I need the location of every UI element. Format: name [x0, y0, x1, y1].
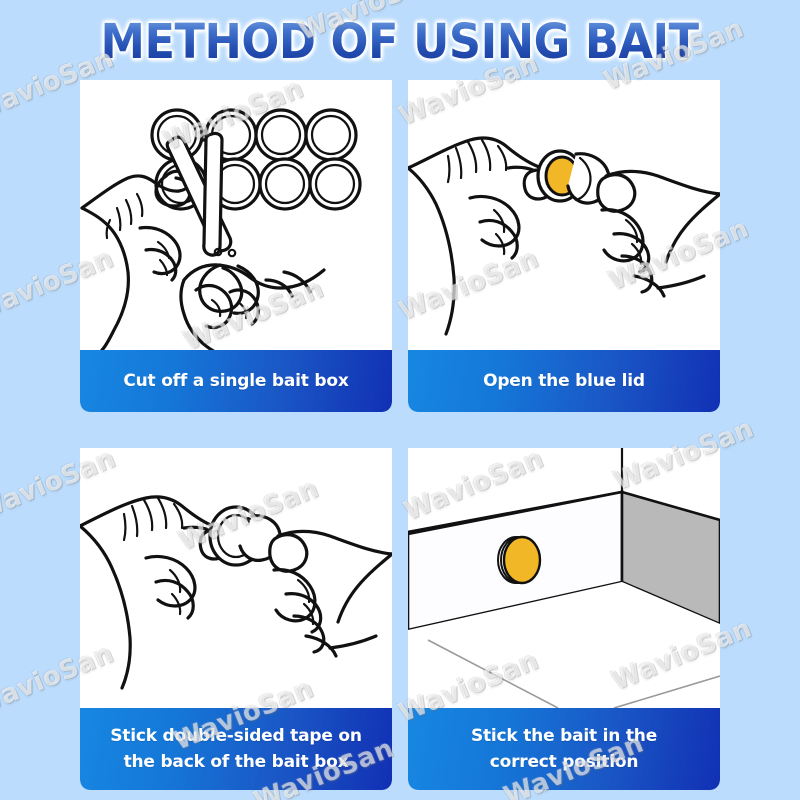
- left-hand: [408, 138, 554, 334]
- step-card-3: Stick double-sided tape on the back of t…: [80, 448, 392, 790]
- right-hand: [598, 172, 720, 297]
- room-corner-with-bait-drawing: [408, 448, 720, 708]
- step-2-illustration: [408, 80, 720, 350]
- step-2-caption-line-1: Open the blue lid: [483, 368, 645, 394]
- step-4-caption-line-1: Stick the bait in the: [471, 723, 657, 749]
- step-2-caption: Open the blue lid: [408, 350, 720, 412]
- page-title: METHOD OF USING BAIT: [97, 18, 703, 66]
- step-3-caption: Stick double-sided tape on the back of t…: [80, 708, 392, 790]
- steps-grid: Cut off a single bait box: [80, 80, 720, 780]
- hands-applying-tape-drawing: [80, 448, 392, 708]
- step-3-illustration: [80, 448, 392, 708]
- step-4-caption-line-2: correct position: [490, 749, 639, 775]
- right-hand: [270, 532, 392, 657]
- step-1-caption-line-1: Cut off a single bait box: [123, 368, 348, 394]
- step-card-4: Stick the bait in the correct position: [408, 448, 720, 790]
- left-hand: [80, 497, 230, 688]
- hands-opening-lid-drawing: [408, 80, 720, 350]
- page-title-container: METHOD OF USING BAIT: [0, 10, 800, 74]
- step-card-2: Open the blue lid: [408, 80, 720, 412]
- step-4-caption: Stick the bait in the correct position: [408, 708, 720, 790]
- infographic-page: METHOD OF USING BAIT: [0, 0, 800, 800]
- step-1-caption: Cut off a single bait box: [80, 350, 392, 412]
- step-3-caption-line-2: the back of the bait box: [124, 749, 349, 775]
- bait-disc-on-wall: [498, 537, 540, 583]
- amber-bait-disc: [504, 537, 540, 583]
- step-4-illustration: [408, 448, 720, 708]
- step-1-illustration: [80, 80, 392, 350]
- scissors-cutting-bait-sheet-drawing: [80, 80, 392, 350]
- step-3-caption-line-1: Stick double-sided tape on: [110, 723, 362, 749]
- step-card-1: Cut off a single bait box: [80, 80, 392, 412]
